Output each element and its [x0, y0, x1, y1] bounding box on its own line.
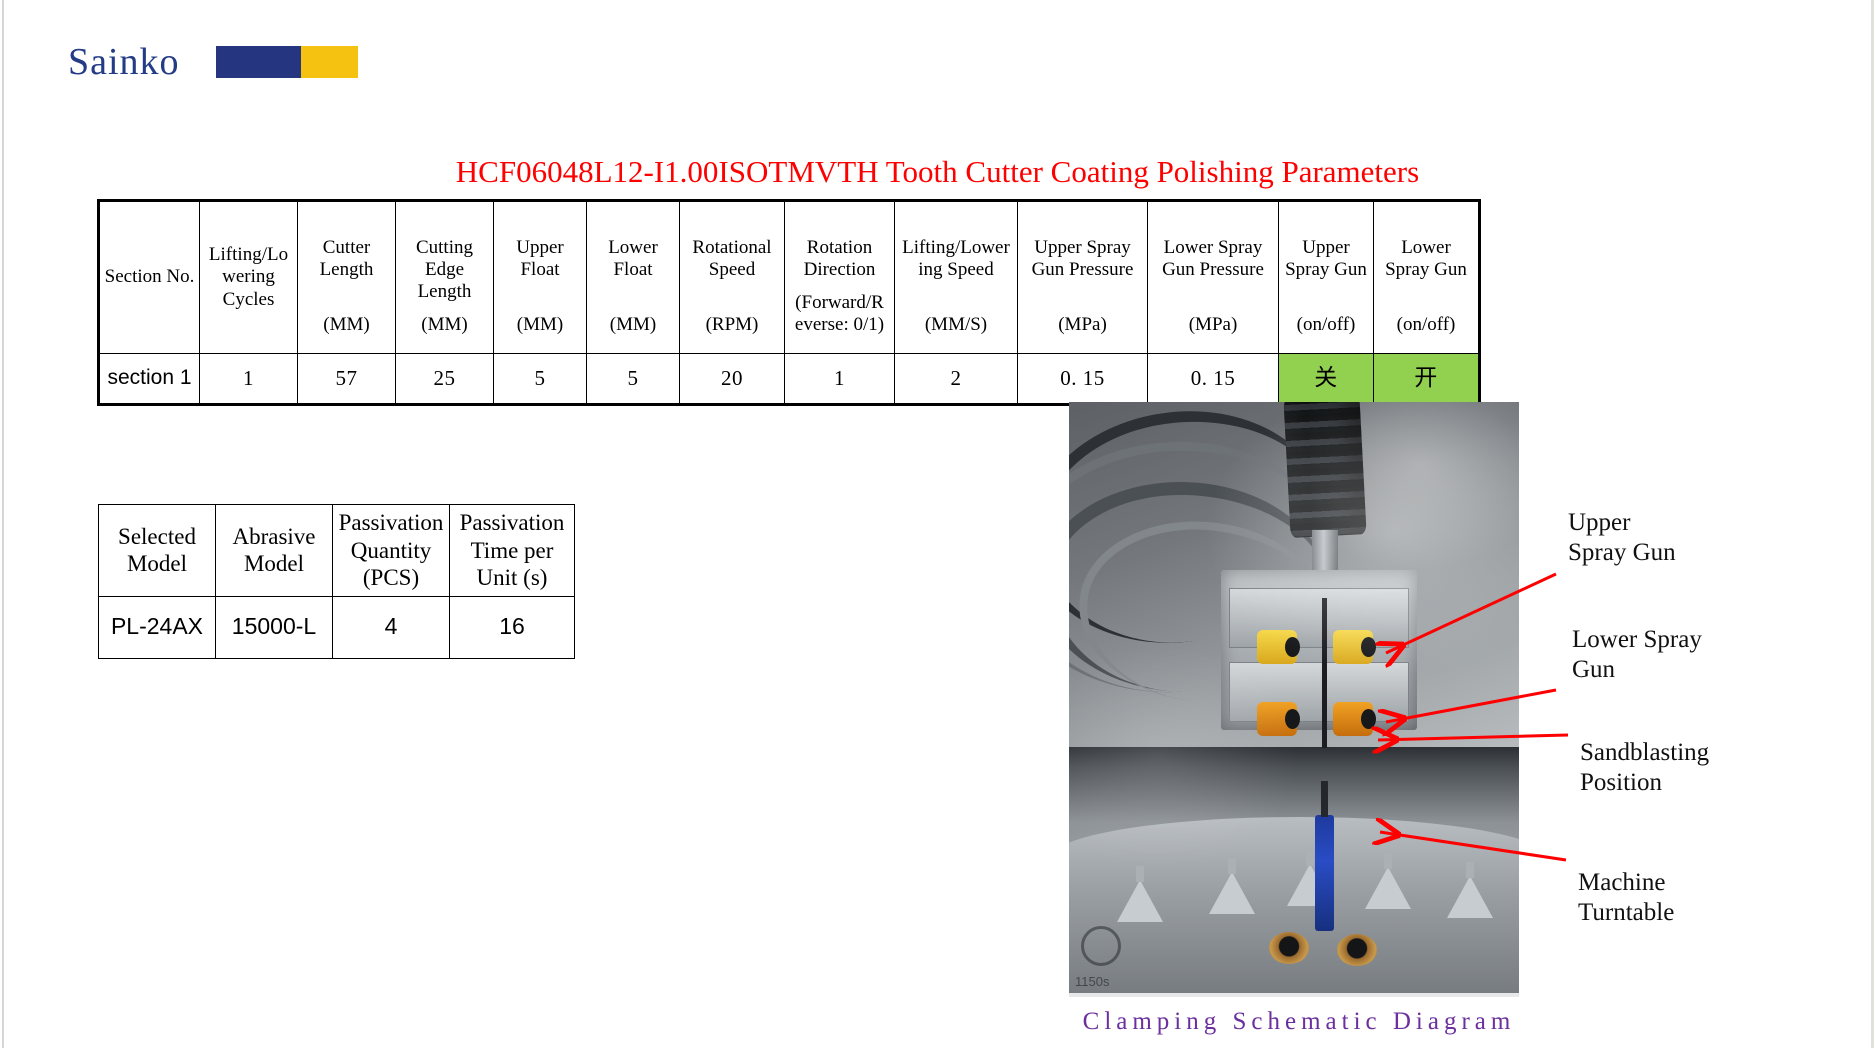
params-col-header-6: Rotational Speed(RPM) — [680, 202, 785, 354]
params-col-header-unit: (MM) — [299, 314, 394, 344]
tool-cone-1 — [1117, 880, 1163, 922]
params-cell-lifting-speed: 2 — [895, 354, 1018, 404]
params-col-header-5: Lower Float(MM) — [587, 202, 680, 354]
params-table-body: section 1157255520120. 150. 15关开 — [100, 354, 1479, 404]
params-cell-rotational-speed: 20 — [680, 354, 785, 404]
params-col-header-unit: (MPa) — [1149, 314, 1277, 344]
clamping-schematic-photo: 1150s — [1069, 402, 1519, 997]
params-col-header-3: Cutting Edge Length(MM) — [396, 202, 494, 354]
lower-spray-nozzle-left — [1257, 702, 1297, 736]
params-col-header-10: Lower Spray Gun Pressure(MPa) — [1148, 202, 1279, 354]
params-col-header-unit: (on/off) — [1280, 314, 1372, 344]
params-cell-rotation-direction: 1 — [785, 354, 895, 404]
params-col-header-unit: (MM) — [495, 314, 585, 344]
params-col-header-label: Upper Spray Gun Pressure — [1019, 211, 1146, 282]
abrasive-col-header-2: Passivation Quantity (PCS) — [333, 505, 450, 597]
equipment-logo-mark — [1081, 926, 1121, 966]
abrasive-header-row: Selected ModelAbrasive ModelPassivation … — [99, 505, 575, 597]
params-col-header-7: Rotation Direction(Forward/R everse: 0/1… — [785, 202, 895, 354]
brand-bar-blue — [216, 46, 301, 78]
abrasive-col-header-0: Selected Model — [99, 505, 216, 597]
params-col-header-label: Rotational Speed — [681, 211, 783, 282]
params-col-header-label: Lifting/Lower ing Speed — [896, 211, 1016, 282]
spray-gun-manifold — [1221, 570, 1417, 730]
abrasive-cell-passivation-time: 16 — [450, 596, 575, 658]
params-col-header-0: Section No. — [100, 202, 200, 354]
abrasive-cell-passivation-quantity: 4 — [333, 596, 450, 658]
spindle-shaft — [1312, 530, 1338, 574]
params-col-header-label: Cutting Edge Length — [397, 211, 492, 304]
params-cell-lower-gun-pressure: 0. 15 — [1148, 354, 1279, 404]
params-col-header-11: Upper Spray Gun(on/off) — [1279, 202, 1374, 354]
params-col-header-unit: (MM) — [397, 314, 492, 344]
bellows-boot — [1283, 402, 1366, 538]
params-table-head: Section No.Lifting/Lo wering CyclesCutte… — [100, 202, 1479, 354]
params-cell-cycles: 1 — [200, 354, 298, 404]
params-table-row: section 1157255520120. 150. 15关开 — [100, 354, 1479, 404]
params-col-header-2: Cutter Length(MM) — [298, 202, 396, 354]
tool-cone-2 — [1209, 872, 1255, 914]
brand-bar-gold — [301, 46, 358, 78]
callout-lower-spray-gun: Lower Spray Gun — [1572, 625, 1702, 685]
params-header-row: Section No.Lifting/Lo wering CyclesCutte… — [100, 202, 1479, 354]
callout-upper-spray-gun: Upper Spray Gun — [1568, 508, 1676, 568]
params-col-header-label: Cutter Length — [299, 211, 394, 282]
params-col-header-unit: (on/off) — [1375, 314, 1477, 344]
params-cell-upper-float: 5 — [494, 354, 587, 404]
brand-logo: Sainko — [68, 40, 358, 84]
tool-cone-4 — [1365, 867, 1411, 909]
params-cell-lower-spray-gun: 开 — [1374, 354, 1479, 404]
callout-machine-turntable: Machine Turntable — [1578, 868, 1674, 928]
abrasive-col-header-3: Passivation Time per Unit (s) — [450, 505, 575, 597]
abrasive-passivation-table: Selected ModelAbrasive ModelPassivation … — [98, 504, 575, 659]
document-title: HCF06048L12-I1.00ISOTMVTH Tooth Cutter C… — [0, 154, 1875, 190]
params-col-header-9: Upper Spray Gun Pressure(MPa) — [1018, 202, 1148, 354]
turntable-port-right — [1337, 934, 1377, 966]
abrasive-table-row: PL-24AX15000-L416 — [99, 596, 575, 658]
params-col-header-1: Lifting/Lo wering Cycles — [200, 202, 298, 354]
params-col-header-unit: (MPa) — [1019, 314, 1146, 344]
params-col-header-12: Lower Spray Gun(on/off) — [1374, 202, 1479, 354]
photo-caption: Clamping Schematic Diagram — [1069, 1008, 1529, 1036]
params-col-header-label: Lower Spray Gun — [1375, 211, 1477, 282]
turntable-port-left — [1269, 932, 1309, 964]
manifold-plate-upper — [1229, 588, 1409, 648]
params-col-header-8: Lifting/Lower ing Speed(MM/S) — [895, 202, 1018, 354]
params-cell-lower-float: 5 — [587, 354, 680, 404]
tool-cone-5 — [1447, 876, 1493, 918]
coating-polishing-parameters-table: Section No.Lifting/Lo wering CyclesCutte… — [99, 201, 1479, 404]
brand-color-bar — [216, 46, 358, 78]
params-cell-section: section 1 — [100, 354, 200, 404]
abrasive-cell-selected-model: PL-24AX — [99, 596, 216, 658]
callout-sandblasting-position: Sandblasting Position — [1580, 738, 1709, 798]
upper-spray-nozzle-left — [1257, 630, 1297, 664]
abrasive-table-body: PL-24AX15000-L416 — [99, 596, 575, 658]
params-cell-cutting-edge-length: 25 — [396, 354, 494, 404]
abrasive-col-header-1: Abrasive Model — [216, 505, 333, 597]
blue-collar-cutter — [1315, 815, 1334, 931]
abrasive-cell-abrasive-model: 15000-L — [216, 596, 333, 658]
abrasive-table-head: Selected ModelAbrasive ModelPassivation … — [99, 505, 575, 597]
params-col-header-label: Lifting/Lo wering Cycles — [201, 244, 296, 311]
params-col-header-4: Upper Float(MM) — [494, 202, 587, 354]
manifold-plate-lower — [1229, 662, 1409, 722]
equipment-logo-text: 1150s — [1075, 974, 1109, 989]
params-col-header-label: Section No. — [101, 266, 198, 288]
params-col-header-unit: (RPM) — [681, 314, 783, 344]
params-cell-cutter-length: 57 — [298, 354, 396, 404]
params-col-header-label: Lower Float — [588, 211, 678, 282]
params-cell-upper-spray-gun: 关 — [1279, 354, 1374, 404]
params-col-header-label: Upper Float — [495, 211, 585, 282]
params-col-header-unit: (Forward/R everse: 0/1) — [786, 292, 893, 345]
params-col-header-unit: (MM) — [588, 314, 678, 344]
params-col-header-label: Upper Spray Gun — [1280, 211, 1372, 282]
center-divider-bar — [1322, 598, 1327, 748]
upper-spray-nozzle-right — [1333, 630, 1373, 664]
params-col-header-unit: (MM/S) — [896, 314, 1016, 344]
params-col-header-label: Lower Spray Gun Pressure — [1149, 211, 1277, 282]
params-col-header-label: Rotation Direction — [786, 211, 893, 282]
params-cell-upper-gun-pressure: 0. 15 — [1018, 354, 1148, 404]
brand-name: Sainko — [68, 40, 180, 84]
lower-spray-nozzle-right — [1333, 702, 1373, 736]
